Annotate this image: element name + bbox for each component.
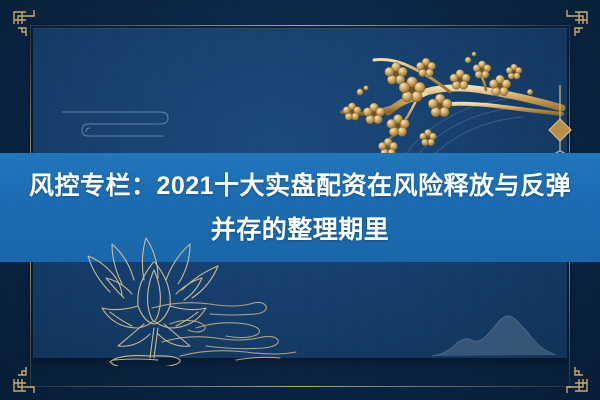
- corner-fret-bottom-right-icon: [551, 355, 591, 395]
- gold-rule-bottom: [30, 386, 570, 387]
- page-title-line-2: 并存的整理期里: [211, 208, 390, 252]
- corner-fret-top-right-icon: [551, 8, 591, 48]
- corner-fret-top-left-icon: [10, 8, 50, 48]
- page-title-line-1: 风控专栏：2021十大实盘配资在风险释放与反弹: [29, 164, 571, 208]
- decorative-rule-lines-icon: [60, 100, 190, 140]
- gold-rule-top: [30, 25, 570, 26]
- corner-fret-bottom-left-icon: [10, 355, 50, 395]
- page-title: 风控专栏：2021十大实盘配资在风险释放与反弹 并存的整理期里: [0, 153, 600, 262]
- banner-image: 风控专栏：2021十大实盘配资在风险释放与反弹 并存的整理期里: [0, 0, 600, 400]
